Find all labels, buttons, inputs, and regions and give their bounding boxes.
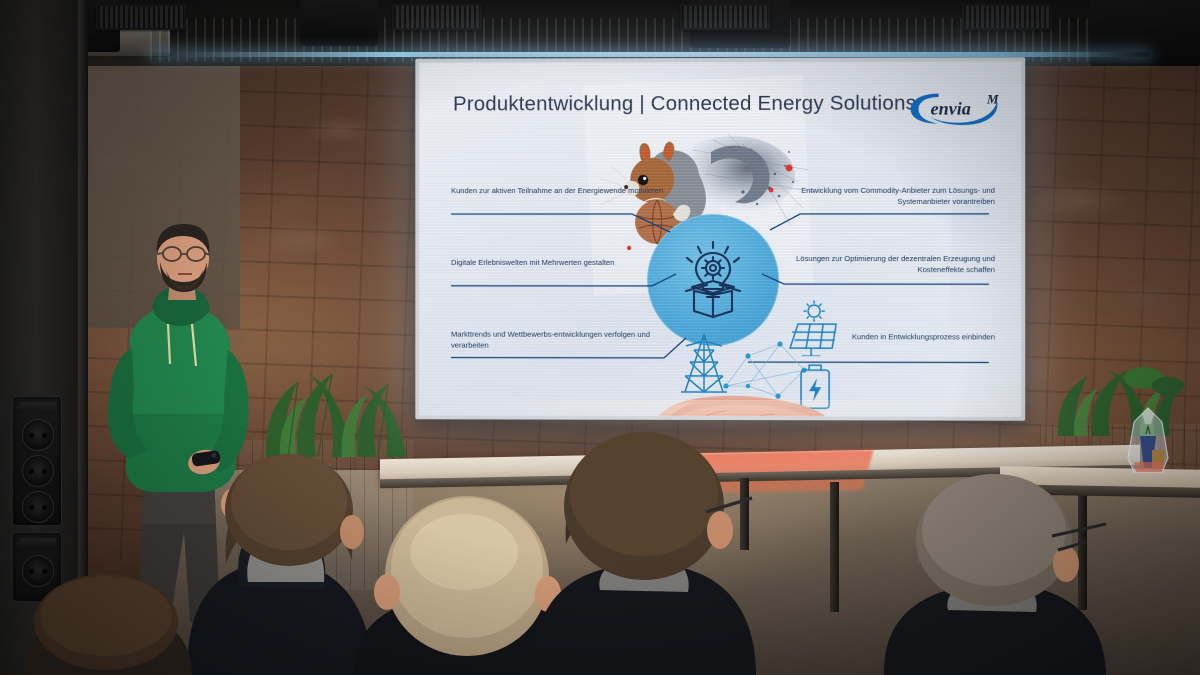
ceiling-vent-0 — [96, 4, 186, 30]
projection-screen[interactable]: Produktentwicklung | Connected Energy So… — [415, 57, 1025, 421]
slide-title: Produktentwicklung | Connected Energy So… — [453, 92, 916, 117]
ceiling-vent-2 — [680, 4, 770, 30]
power-socket[interactable] — [22, 491, 54, 523]
audience-member-5 — [22, 560, 192, 675]
ceiling-beam-mid — [300, 0, 378, 46]
power-socket[interactable] — [22, 419, 54, 451]
slide-bullet-right-2: Lösungen zur Optimierung der dezentralen… — [779, 254, 995, 276]
lightbulb-gear-in-box-icon — [670, 237, 756, 323]
audience-member-3 — [530, 420, 760, 675]
presentation-slide: Produktentwicklung | Connected Energy So… — [419, 61, 1021, 416]
solar-panel-icon — [784, 300, 840, 356]
slide-bullet-left-2: Digitale Erlebniswelten mit Mehrwerten g… — [451, 258, 665, 269]
ceiling-led-strip — [150, 52, 1150, 57]
logo-wordmark: envia — [931, 98, 971, 118]
table-leg — [830, 482, 839, 612]
power-strip[interactable] — [12, 396, 62, 526]
slide-bullet-left-1: Kunden zur aktiven Teilnahme an der Ener… — [451, 186, 665, 197]
presentation-room-scene: Produktentwicklung | Connected Energy So… — [0, 0, 1200, 675]
center-circle — [647, 214, 779, 346]
power-strip-label — [20, 402, 56, 413]
power-socket[interactable] — [22, 455, 54, 487]
envia-m-logo: envia M — [908, 87, 1005, 127]
ceiling-vent-1 — [392, 4, 482, 30]
logo-suffix: M — [986, 91, 999, 106]
slide-bullet-right-1: Entwicklung vom Commodity-Anbieter zum L… — [779, 186, 995, 208]
slide-bullet-left-3: Markttrends und Wettbewerbs-entwicklunge… — [451, 330, 665, 352]
audience-member-4 — [880, 470, 1110, 675]
ceiling-vent-3 — [962, 4, 1052, 30]
gift-basket — [1118, 406, 1178, 478]
power-strip-label — [20, 538, 56, 549]
